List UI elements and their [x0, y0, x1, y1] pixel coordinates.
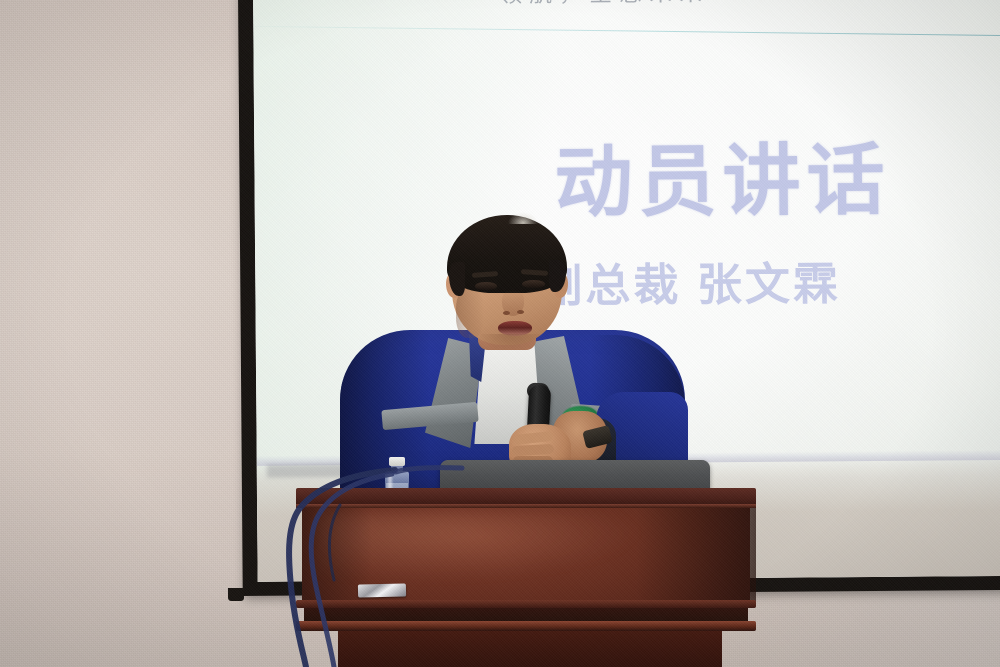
slide-header-company-name: 康泰塑胶科技集团有 — [863, 0, 1000, 3]
speaker-right-nostril — [517, 310, 524, 314]
speaker-left-eye — [475, 282, 497, 290]
podium-right-shading — [636, 508, 756, 603]
podium-molding-upper — [296, 600, 756, 608]
hair-left-sideburn — [449, 262, 465, 296]
podium-molding-lower — [296, 621, 756, 631]
photograph-scene: TECHNOLOGY INDUSTRY 领航，全感未来 康泰塑胶科技集团有 动员… — [0, 0, 1000, 667]
hair-stray-strand — [508, 212, 538, 224]
podium-molding-middle — [304, 608, 748, 622]
speaker-left-nostril — [503, 311, 510, 315]
podium-nameplate — [358, 583, 406, 597]
podium-pedestal — [338, 631, 722, 667]
bottle-cap — [389, 457, 405, 466]
speaker-right-eye — [522, 280, 545, 288]
chin-shadow — [480, 334, 542, 350]
podium — [296, 488, 756, 667]
projection-screen-bracket — [228, 588, 244, 601]
slide-header-tagline: 领航，全感未来 — [499, 0, 709, 9]
